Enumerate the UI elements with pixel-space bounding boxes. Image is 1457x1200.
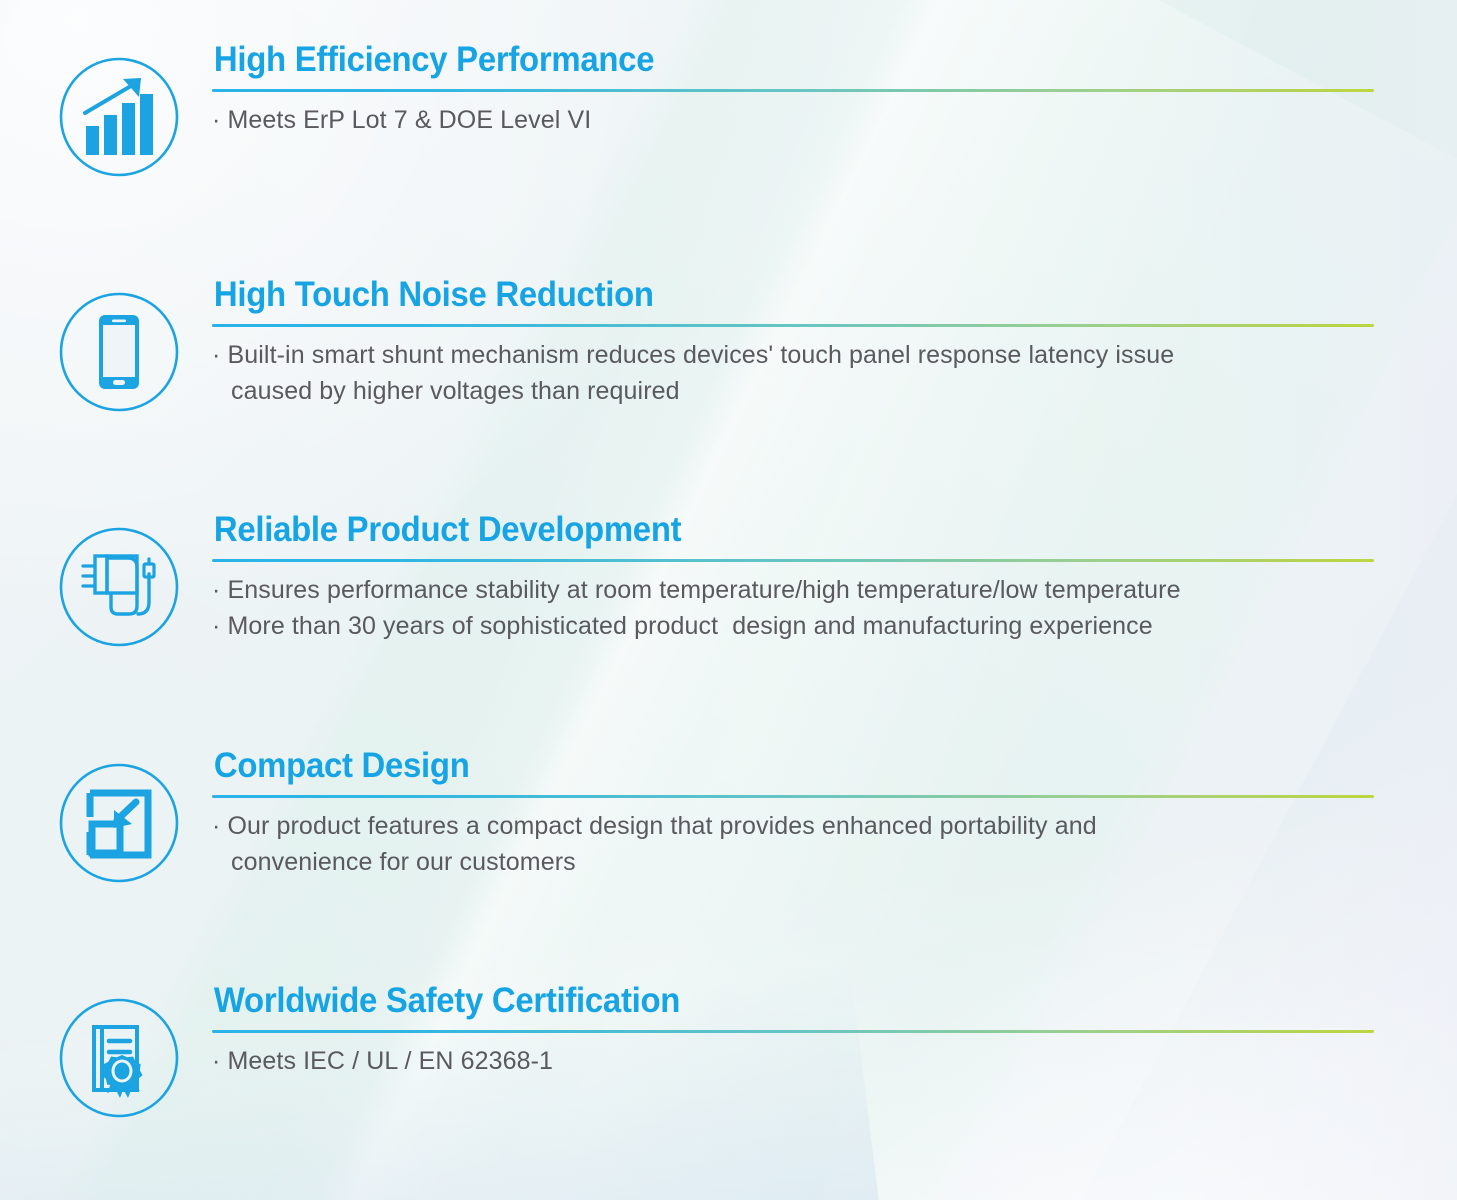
bullet-line: · Meets ErP Lot 7 & DOE Level VI [212, 102, 1392, 138]
bullet-marker: · [212, 612, 220, 640]
shrink-resize-icon [58, 762, 180, 884]
bullet-text: Built-in smart shunt mechanism reduces d… [227, 341, 1174, 369]
feature-item-reliable-product-development: Reliable Product Development · Ensures p… [0, 512, 1457, 712]
bullet-marker: · [212, 341, 220, 369]
feature-infographic-page: High Efficiency Performance · Meets ErP … [0, 0, 1457, 1200]
feature-bullets: · Meets IEC / UL / EN 62368-1 [212, 1043, 1392, 1079]
bullet-line: · Meets IEC / UL / EN 62368-1 [212, 1043, 1392, 1079]
feature-item-high-touch-noise-reduction: High Touch Noise Reduction · Built-in sm… [0, 277, 1457, 477]
feature-item-worldwide-safety-certification: Worldwide Safety Certification · Meets I… [0, 983, 1457, 1183]
bullet-marker: · [212, 812, 220, 840]
bullet-marker: · [212, 576, 220, 604]
bullet-text: caused by higher voltages than required [231, 377, 680, 405]
feature-item-compact-design: Compact Design · Our product features a … [0, 748, 1457, 948]
bullet-text: More than 30 years of sophisticated prod… [227, 612, 1152, 640]
bullet-line: · Built-in smart shunt mechanism reduces… [212, 337, 1392, 373]
feature-list: High Efficiency Performance · Meets ErP … [0, 0, 1457, 1200]
feature-body: High Efficiency Performance · Meets ErP … [212, 42, 1392, 138]
power-adapter-icon [58, 526, 180, 648]
bullet-text: convenience for our customers [231, 848, 576, 876]
feature-bullets: · Built-in smart shunt mechanism reduces… [212, 337, 1392, 409]
smartphone-icon [58, 291, 180, 413]
feature-title: Reliable Product Development [212, 512, 1321, 550]
feature-item-high-efficiency-performance: High Efficiency Performance · Meets ErP … [0, 42, 1457, 242]
feature-bullets: · Meets ErP Lot 7 & DOE Level VI [212, 102, 1392, 138]
feature-body: Reliable Product Development · Ensures p… [212, 512, 1392, 644]
bullet-line: · More than 30 years of sophisticated pr… [212, 608, 1392, 644]
feature-title: Worldwide Safety Certification [212, 983, 1321, 1021]
bar-chart-growth-icon [58, 56, 180, 178]
feature-title: High Touch Noise Reduction [212, 277, 1321, 315]
feature-title: Compact Design [212, 748, 1321, 786]
feature-divider [212, 89, 1374, 92]
bullet-text: Our product features a compact design th… [227, 812, 1096, 840]
feature-divider [212, 559, 1374, 562]
bullet-line: · Ensures performance stability at room … [212, 572, 1392, 608]
feature-divider [212, 324, 1374, 327]
bullet-line-continuation: convenience for our customers [212, 844, 1392, 880]
bullet-line-continuation: caused by higher voltages than required [212, 373, 1392, 409]
bullet-text: Ensures performance stability at room te… [227, 576, 1180, 604]
feature-body: Compact Design · Our product features a … [212, 748, 1392, 880]
certificate-award-icon [58, 997, 180, 1119]
feature-body: High Touch Noise Reduction · Built-in sm… [212, 277, 1392, 409]
feature-body: Worldwide Safety Certification · Meets I… [212, 983, 1392, 1079]
feature-divider [212, 1030, 1374, 1033]
bullet-marker: · [212, 1047, 220, 1075]
feature-bullets: · Ensures performance stability at room … [212, 572, 1392, 644]
bullet-line: · Our product features a compact design … [212, 808, 1392, 844]
feature-title: High Efficiency Performance [212, 42, 1321, 80]
feature-divider [212, 795, 1374, 798]
feature-bullets: · Our product features a compact design … [212, 808, 1392, 880]
bullet-text: Meets IEC / UL / EN 62368-1 [227, 1047, 553, 1075]
bullet-marker: · [212, 106, 220, 134]
bullet-text: Meets ErP Lot 7 & DOE Level VI [227, 106, 591, 134]
